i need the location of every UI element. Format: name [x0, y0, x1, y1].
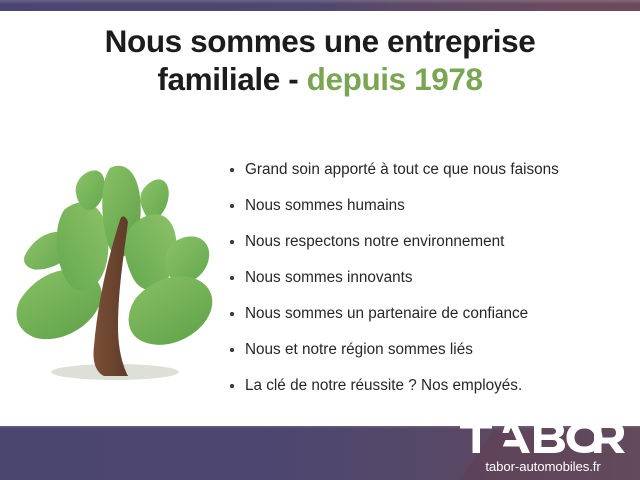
- list-item: La clé de notre réussite ? Nos employés.: [228, 368, 628, 404]
- list-item-label: Nous sommes humains: [245, 197, 405, 214]
- title-line-2: familiale - depuis 1978: [0, 62, 640, 98]
- list-item-label: Grand soin apporté à tout ce que nous fa…: [245, 161, 559, 178]
- brand-url: tabor-automobiles.fr: [460, 459, 626, 474]
- tree-illustration-svg: [12, 150, 224, 390]
- bullet-dot-icon: [230, 384, 234, 388]
- tree-illustration: [12, 150, 224, 390]
- list-item-label: La clé de notre réussite ? Nos employés.: [245, 377, 522, 394]
- top-accent-bar-highlight: [0, 0, 640, 4]
- page-title: Nous sommes une entreprise familiale - d…: [0, 24, 640, 97]
- title-line-2-prefix: familiale: [157, 61, 279, 97]
- list-item: Nous sommes un partenaire de confiance: [228, 296, 628, 332]
- list-item-label: Nous sommes un partenaire de confiance: [245, 305, 528, 322]
- title-line-1: Nous sommes une entreprise: [0, 24, 640, 60]
- list-item-label: Nous sommes innovants: [245, 269, 413, 286]
- benefits-list: Grand soin apporté à tout ce que nous fa…: [228, 152, 628, 404]
- list-item: Nous sommes innovants: [228, 260, 628, 296]
- bullet-dot-icon: [230, 204, 234, 208]
- top-accent-bar: [0, 0, 640, 11]
- list-item: Nous respectons notre environnement: [228, 224, 628, 260]
- title-line-2-accent: depuis 1978: [307, 61, 483, 97]
- brand-footer: tabor-automobiles.fr: [0, 405, 640, 480]
- bullet-dot-icon: [230, 276, 234, 280]
- list-item: Grand soin apporté à tout ce que nous fa…: [228, 152, 628, 188]
- list-item-label: Nous respectons notre environnement: [245, 233, 504, 250]
- bullet-dot-icon: [230, 312, 234, 316]
- list-item: Nous et notre région sommes liés: [228, 332, 628, 368]
- list-item: Nous sommes humains: [228, 188, 628, 224]
- bullet-dot-icon: [230, 168, 234, 172]
- list-item-label: Nous et notre région sommes liés: [245, 341, 473, 358]
- brand-logo[interactable]: tabor-automobiles.fr: [460, 422, 626, 474]
- title-line-2-dash: -: [280, 61, 307, 97]
- bullet-dot-icon: [230, 348, 234, 352]
- bullet-dot-icon: [230, 240, 234, 244]
- tabor-wordmark-icon: [460, 422, 626, 458]
- slide-canvas: Nous sommes une entreprise familiale - d…: [0, 0, 640, 480]
